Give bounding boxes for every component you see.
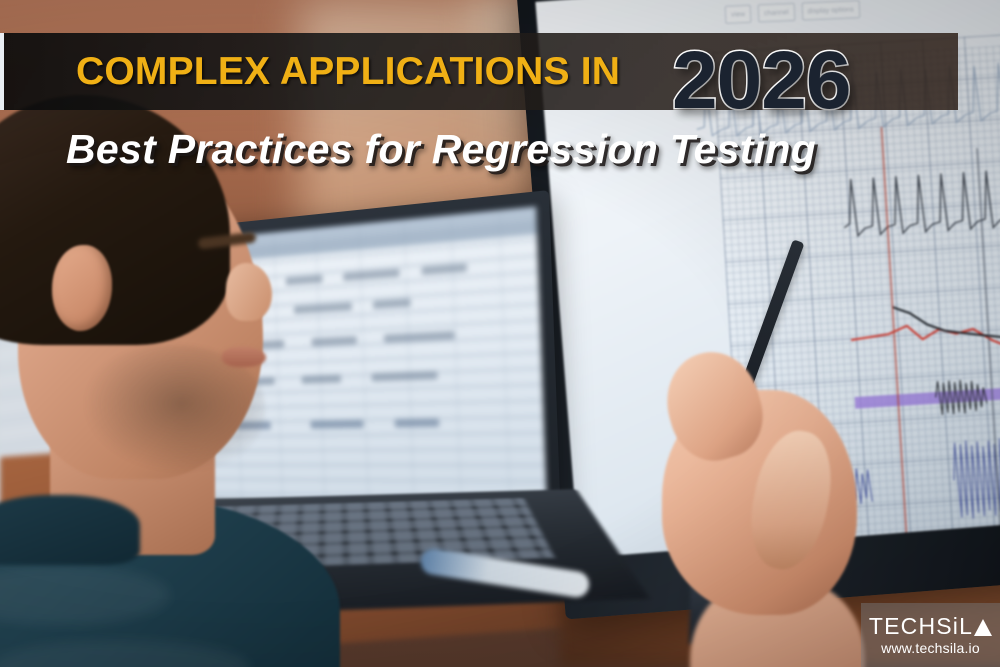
logo-url: www.techsila.io: [881, 641, 980, 655]
cursor-line-red: [882, 127, 908, 555]
page-subtitle: Best Practices for Regression Testing: [66, 126, 816, 173]
cursor-line-grey: [977, 148, 1000, 549]
nose: [226, 263, 272, 321]
triangle-a-icon: [974, 619, 992, 636]
toolbar-chip-channel: channel: [757, 3, 794, 23]
toolbar-chip-display-options: display options: [801, 0, 860, 21]
trace-black: [893, 294, 1000, 353]
logo-wordmark: TECHSiL: [869, 615, 992, 638]
person-subject: [0, 95, 360, 667]
trace-band-dense-dark: [841, 164, 1000, 237]
year-label: 2026: [672, 40, 850, 122]
toolbar-chip-view: view: [724, 5, 751, 24]
hand: [650, 330, 880, 630]
lips: [222, 347, 266, 367]
page-title: COMPLEX APPLICATIONS IN: [76, 50, 620, 94]
brand-logo[interactable]: TECHSiL www.techsila.io: [861, 603, 1000, 667]
spreadsheet-cell-blob: [395, 419, 440, 428]
sweater-collar: [0, 495, 140, 565]
banner-image: view channel display options: [0, 0, 1000, 667]
logo-wordmark-text: TECHSiL: [869, 615, 973, 638]
